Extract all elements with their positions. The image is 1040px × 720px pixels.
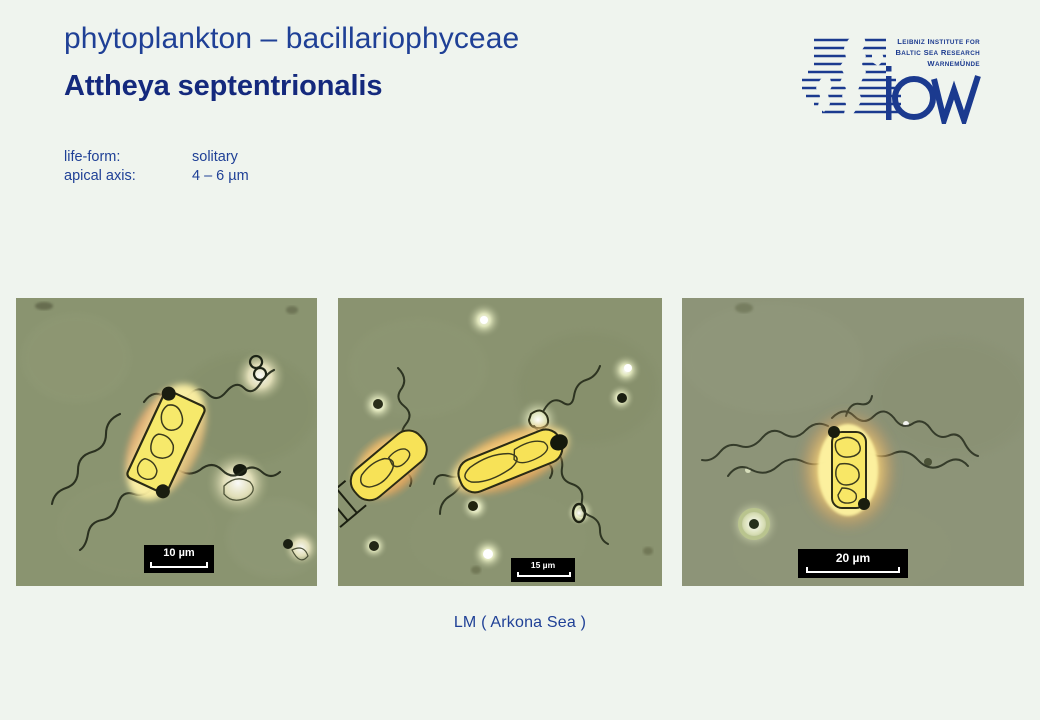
page-header: phytoplankton – bacillariophyceae Atthey… xyxy=(64,22,764,103)
micrograph-plate: 10 µm xyxy=(0,298,1040,588)
logo-institute-text: LEIBNIZ INSTITUTE FOR BALTIC SEA RESEARC… xyxy=(895,37,980,68)
metadata-label-apical-axis: apical axis: xyxy=(64,167,192,186)
micrograph-panel-2[interactable]: 15 µm xyxy=(338,298,662,586)
scalebar-label-panel-1: 10 µm xyxy=(150,548,208,560)
scalebar-panel-3: 20 µm xyxy=(798,549,908,578)
taxon-group-title: phytoplankton – bacillariophyceae xyxy=(64,22,764,57)
micrograph-panel-1[interactable]: 10 µm xyxy=(16,298,317,586)
logo-wordmark xyxy=(886,66,978,120)
metadata-label-life-form: life-form: xyxy=(64,148,192,167)
iow-logo: LEIBNIZ INSTITUTE FOR BALTIC SEA RESEARC… xyxy=(800,34,982,124)
logo-line-2: BALTIC SEA RESEARCH xyxy=(895,48,980,57)
micrograph-panel-3[interactable]: 20 µm xyxy=(682,298,1024,586)
logo-landmass xyxy=(816,34,884,118)
logo-line-3: WARNEMÜNDE xyxy=(927,59,980,68)
scalebar-label-panel-2: 15 µm xyxy=(517,561,569,570)
scalebar-rule-panel-3 xyxy=(806,567,900,573)
species-title: Attheya septentrionalis xyxy=(64,69,764,104)
plate-caption: LM ( Arkona Sea ) xyxy=(0,614,1040,632)
species-metadata: life-form: solitary apical axis: 4 – 6 µ… xyxy=(64,148,249,187)
metadata-row-life-form: life-form: solitary xyxy=(64,148,249,167)
metadata-value-apical-axis: 4 – 6 µm xyxy=(192,167,249,186)
attheya-cell xyxy=(798,408,898,532)
scalebar-label-panel-3: 20 µm xyxy=(804,552,902,565)
scalebar-panel-1: 10 µm xyxy=(144,545,214,573)
scalebar-rule-panel-2 xyxy=(517,572,571,577)
metadata-row-apical-axis: apical axis: 4 – 6 µm xyxy=(64,167,249,186)
logo-line-1: LEIBNIZ INSTITUTE FOR xyxy=(897,37,980,46)
scalebar-rule-panel-1 xyxy=(150,562,208,568)
metadata-value-life-form: solitary xyxy=(192,148,249,167)
scalebar-panel-2: 15 µm xyxy=(511,558,575,582)
